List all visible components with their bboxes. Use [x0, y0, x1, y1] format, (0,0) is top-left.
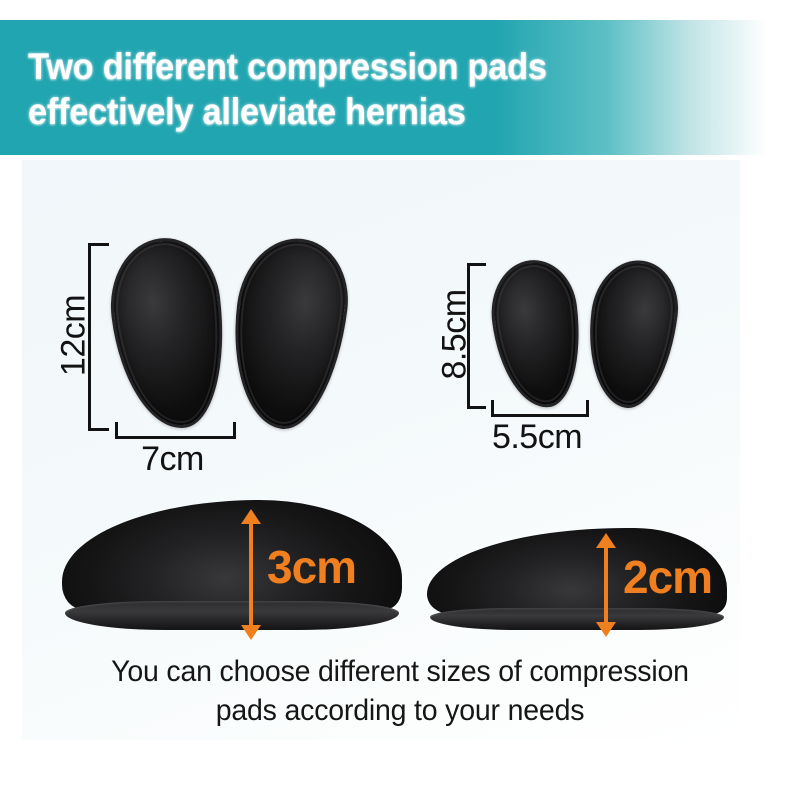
small-pad-right — [580, 255, 683, 412]
pad-stitch-rim — [108, 238, 229, 430]
large-pad-left — [103, 232, 235, 435]
small-pad-left — [485, 255, 588, 412]
thickness-arrow-large — [249, 522, 253, 627]
large-pad-profile-group: 3cm — [62, 500, 402, 630]
large-pad-group: 12cm 7cm — [22, 160, 382, 490]
height-label-large: 12cm — [55, 276, 94, 396]
caption-text: You can choose different sizes of compre… — [58, 652, 742, 730]
thickness-label-large: 3cm — [267, 540, 356, 594]
header-banner: Two different compression pads effective… — [0, 20, 800, 155]
pad-stitch-rim — [586, 261, 678, 407]
pad-base-rim — [65, 601, 398, 630]
small-pad-group: 8.5cm 5.5cm — [407, 160, 737, 490]
pad-stitch-rim — [491, 261, 583, 407]
width-label-small: 5.5cm — [463, 418, 611, 457]
height-label-small: 8.5cm — [436, 275, 475, 395]
page-title: Two different compression pads effective… — [28, 44, 679, 134]
width-label-large: 7cm — [115, 440, 230, 479]
infographic-page: Two different compression pads effective… — [0, 0, 800, 800]
pad-base-rim — [430, 608, 724, 630]
thickness-label-small: 2cm — [623, 550, 712, 604]
small-pad-profile-group: 2cm — [427, 528, 727, 630]
large-pad-right — [223, 232, 355, 435]
thickness-arrow-small — [604, 546, 608, 624]
pad-stitch-rim — [228, 238, 349, 430]
